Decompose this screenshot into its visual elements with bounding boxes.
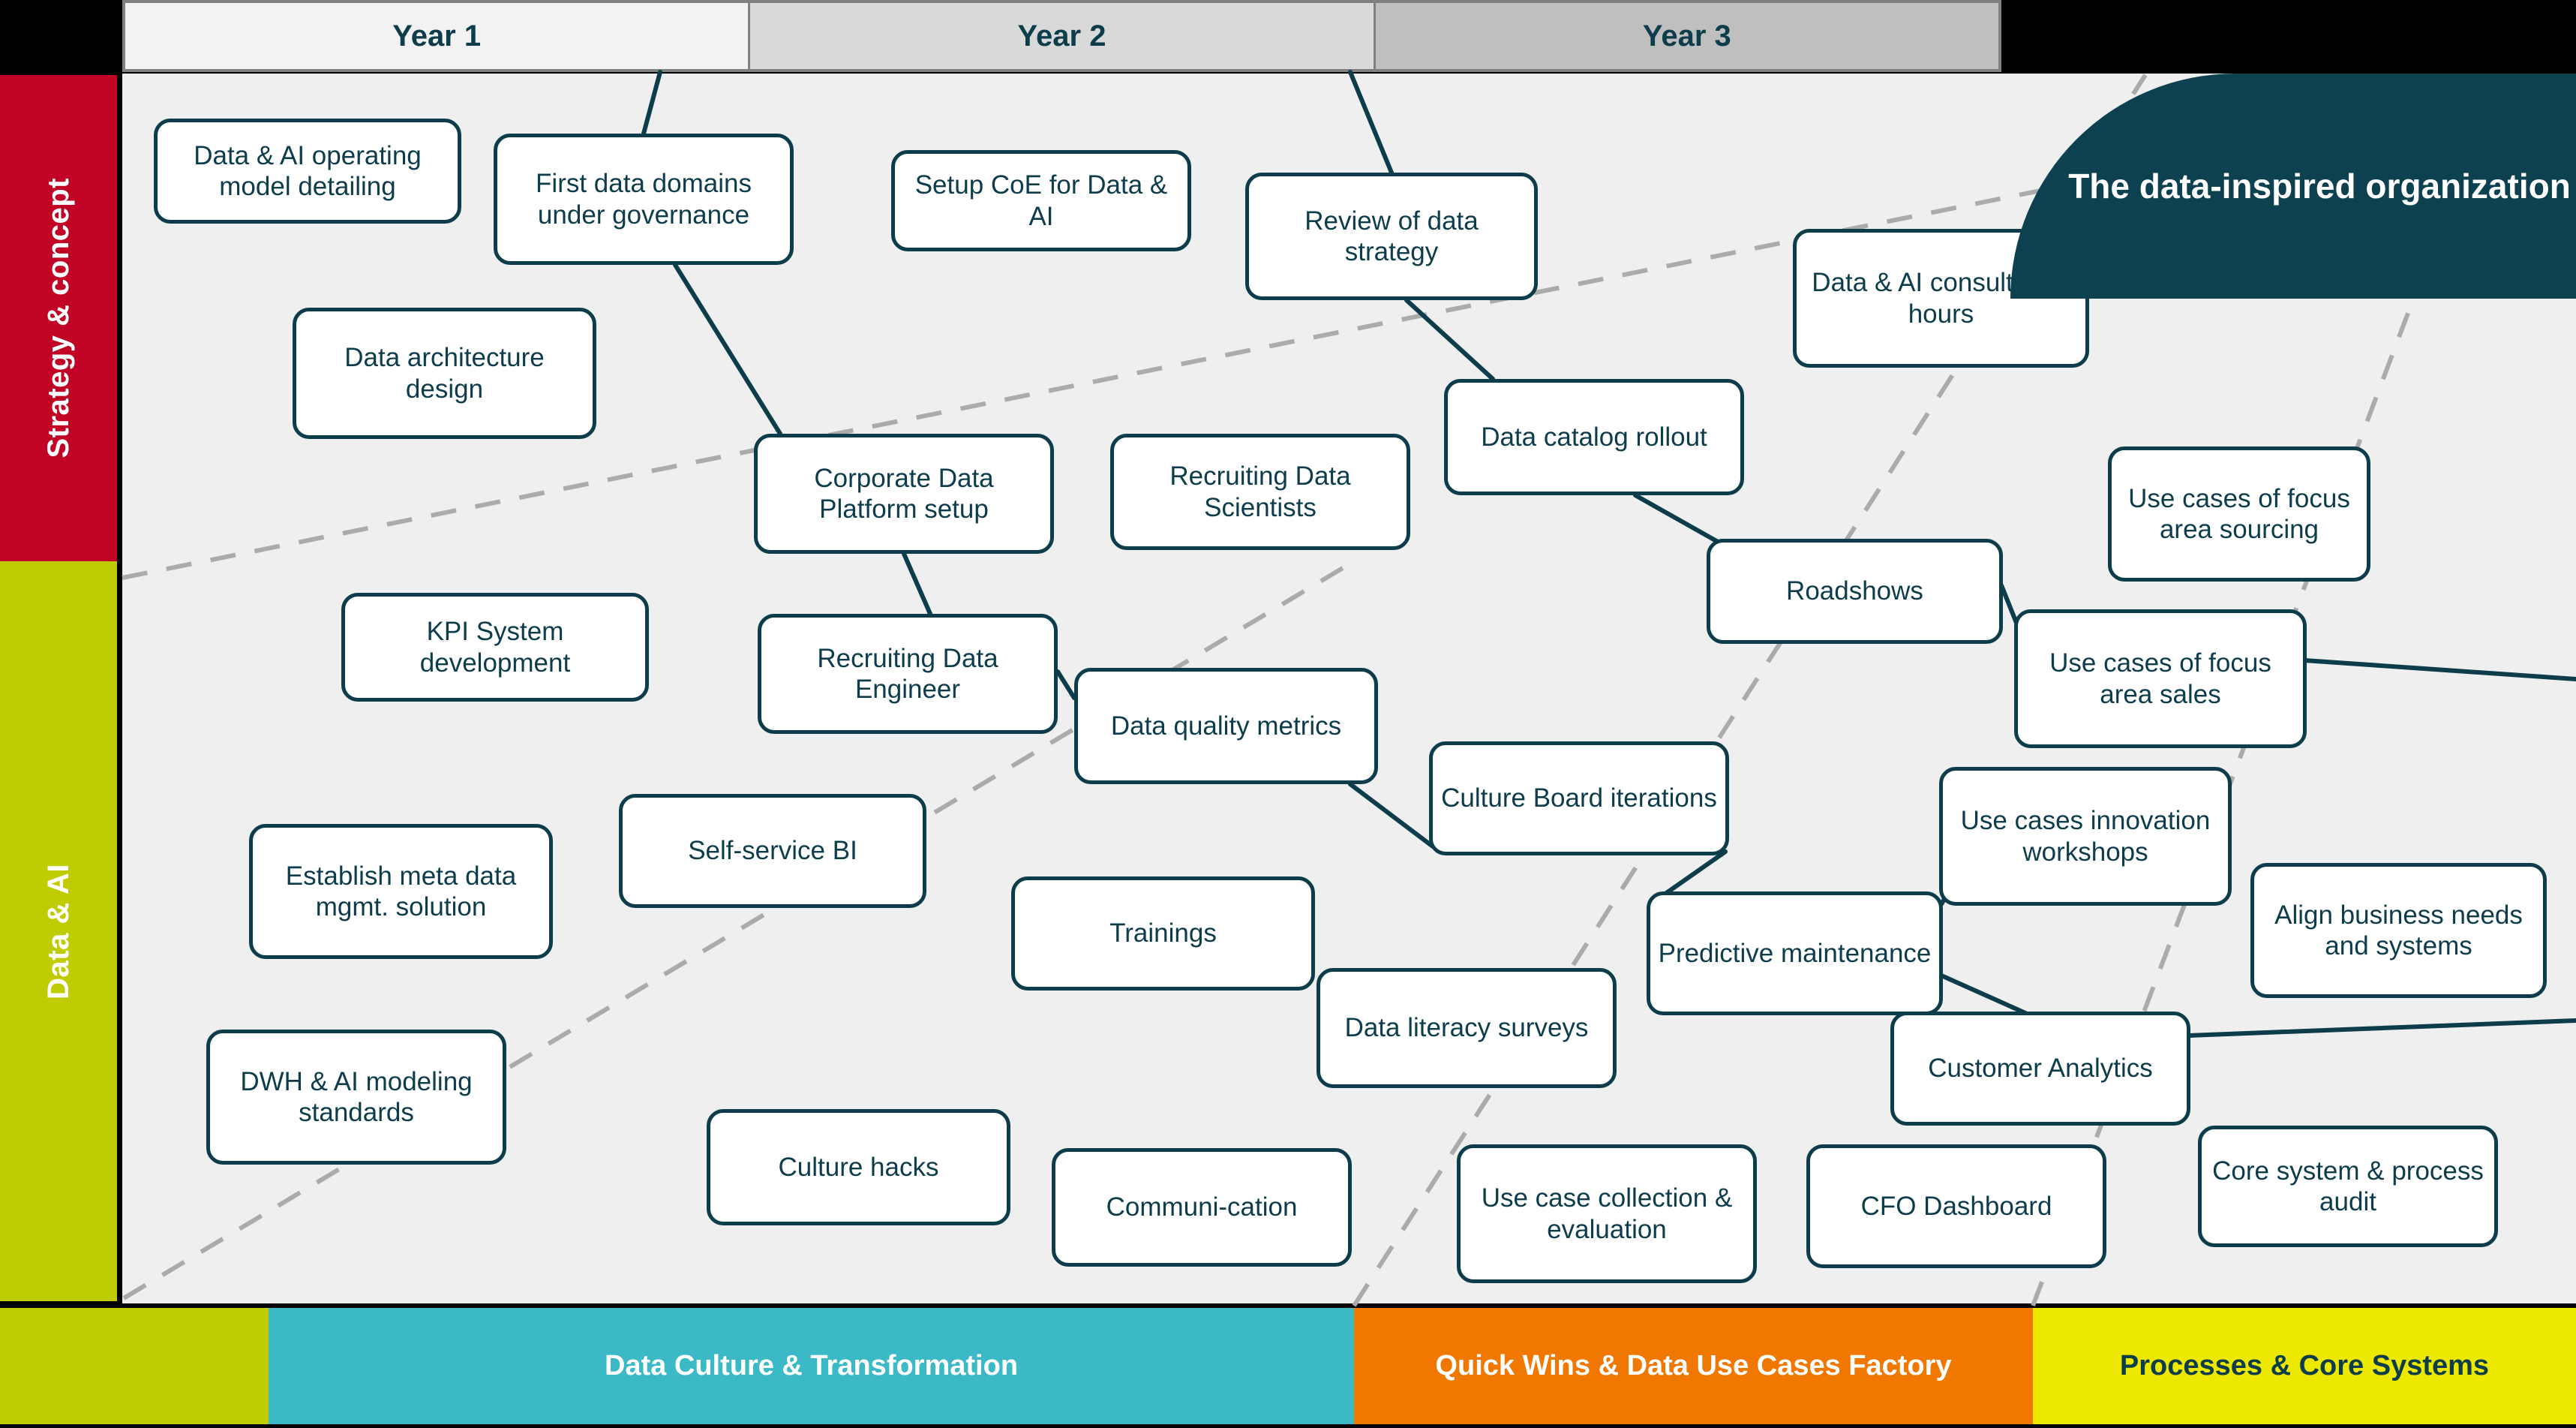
task-box-label: DWH & AI modeling standards bbox=[218, 1066, 495, 1129]
task-box[interactable]: CFO Dashboard bbox=[1806, 1144, 2106, 1268]
task-box-label: Review of data strategy bbox=[1256, 206, 1527, 268]
task-box[interactable]: Culture Board iterations bbox=[1429, 741, 1729, 855]
task-box[interactable]: Data & AI operating model detailing bbox=[154, 119, 461, 224]
task-box[interactable]: Data literacy surveys bbox=[1317, 968, 1617, 1088]
task-box-label: Data architecture design bbox=[304, 342, 585, 404]
stream-bar-quick-wins[interactable]: Quick Wins & Data Use Cases Factory bbox=[1354, 1308, 2033, 1424]
task-box[interactable]: Recruiting Data Scientists bbox=[1110, 434, 1410, 550]
task-box[interactable]: Use cases innovation workshops bbox=[1939, 767, 2232, 906]
task-box-label: Predictive maintenance bbox=[1659, 938, 1932, 969]
task-box[interactable]: Align business needs and systems bbox=[2250, 863, 2547, 998]
task-box-label: Recruiting Data Engineer bbox=[769, 643, 1046, 705]
year-header-strip: Year 1 Year 2 Year 3 bbox=[122, 0, 2001, 72]
task-box[interactable]: Recruiting Data Engineer bbox=[758, 614, 1058, 734]
task-box-label: KPI System development bbox=[353, 616, 638, 678]
stream-bar-spacer bbox=[0, 1308, 269, 1424]
task-box-label: Customer Analytics bbox=[1928, 1053, 2153, 1084]
task-box[interactable]: Trainings bbox=[1011, 876, 1315, 991]
task-box[interactable]: Corporate Data Platform setup bbox=[754, 434, 1054, 554]
year-header-2: Year 2 bbox=[750, 3, 1375, 69]
task-box[interactable]: Data quality metrics bbox=[1074, 668, 1378, 784]
task-box-label: Corporate Data Platform setup bbox=[765, 463, 1043, 525]
task-box[interactable]: First data domains under governance bbox=[494, 134, 794, 265]
task-box[interactable]: Use cases of focus area sourcing bbox=[2108, 446, 2370, 582]
task-box[interactable]: Core system & process audit bbox=[2198, 1126, 2498, 1247]
task-box-label: Use cases of focus area sales bbox=[2025, 648, 2295, 710]
task-box-label: Culture hacks bbox=[779, 1152, 939, 1183]
stream-label-data-culture: Data Culture & Transformation bbox=[605, 1349, 1018, 1383]
task-box-label: Recruiting Data Scientists bbox=[1121, 461, 1399, 523]
year-header-3: Year 3 bbox=[1376, 3, 1998, 69]
task-box-label: Culture Board iterations bbox=[1441, 783, 1717, 813]
task-box[interactable]: Culture hacks bbox=[707, 1109, 1010, 1225]
task-box-label: CFO Dashboard bbox=[1861, 1191, 2052, 1222]
task-box-label: Trainings bbox=[1109, 918, 1217, 948]
task-box[interactable]: DWH & AI modeling standards bbox=[206, 1030, 506, 1165]
task-box-label: Self-service BI bbox=[688, 835, 857, 866]
task-box[interactable]: Review of data strategy bbox=[1245, 173, 1538, 300]
swimlane-label-strategy: Strategy & concept bbox=[42, 178, 76, 458]
task-box[interactable]: Use cases of focus area sales bbox=[2014, 609, 2307, 748]
task-box-label: Setup CoE for Data & AI bbox=[902, 170, 1180, 232]
task-box-label: Data literacy surveys bbox=[1345, 1012, 1589, 1043]
task-box[interactable]: Customer Analytics bbox=[1890, 1012, 2190, 1126]
task-box-label: Align business needs and systems bbox=[2262, 900, 2535, 962]
stream-label-quick-wins: Quick Wins & Data Use Cases Factory bbox=[1435, 1349, 1951, 1383]
task-box-label: First data domains under governance bbox=[505, 168, 782, 230]
task-box[interactable]: Communi-cation bbox=[1052, 1148, 1352, 1267]
task-box[interactable]: Setup CoE for Data & AI bbox=[891, 150, 1191, 251]
task-box[interactable]: Use case collection & evaluation bbox=[1457, 1144, 1757, 1283]
task-box-label: Establish meta data mgmt. solution bbox=[260, 861, 542, 923]
headline-badge-text: The data-inspired organization bbox=[2068, 165, 2571, 207]
task-box[interactable]: Roadshows bbox=[1707, 539, 2003, 644]
roadmap-canvas: Year 1 Year 2 Year 3 Strategy & concept … bbox=[0, 0, 2576, 1428]
task-box-label: Use case collection & evaluation bbox=[1468, 1183, 1746, 1245]
task-box-label: Roadshows bbox=[1786, 576, 1923, 606]
year-header-1: Year 1 bbox=[125, 3, 750, 69]
task-box-label: Data & AI operating model detailing bbox=[165, 140, 450, 203]
stream-bar-core-systems[interactable]: Processes & Core Systems bbox=[2033, 1308, 2576, 1424]
task-box[interactable]: Data catalog rollout bbox=[1444, 379, 1744, 495]
swimlane-strategy-and-concept: Strategy & concept bbox=[0, 75, 117, 561]
task-box[interactable]: Data architecture design bbox=[293, 308, 596, 439]
task-box-label: Communi-cation bbox=[1106, 1192, 1298, 1222]
swimlane-label-dataai: Data & AI bbox=[42, 864, 76, 1000]
task-box-label: Core system & process audit bbox=[2209, 1156, 2487, 1218]
task-box-label: Data quality metrics bbox=[1111, 711, 1341, 741]
stream-label-core-systems: Processes & Core Systems bbox=[2120, 1349, 2489, 1383]
swimlane-data-and-ai: Data & AI bbox=[0, 561, 117, 1301]
task-box[interactable]: Self-service BI bbox=[619, 794, 926, 908]
task-box-label: Data catalog rollout bbox=[1481, 422, 1707, 452]
task-box-label: Use cases innovation workshops bbox=[1950, 805, 2220, 867]
stream-bar-data-culture[interactable]: Data Culture & Transformation bbox=[269, 1308, 1354, 1424]
task-box-label: Use cases of focus area sourcing bbox=[2119, 483, 2359, 546]
task-box[interactable]: KPI System development bbox=[341, 593, 649, 702]
task-box[interactable]: Predictive maintenance bbox=[1647, 891, 1943, 1015]
task-box[interactable]: Establish meta data mgmt. solution bbox=[249, 824, 553, 959]
